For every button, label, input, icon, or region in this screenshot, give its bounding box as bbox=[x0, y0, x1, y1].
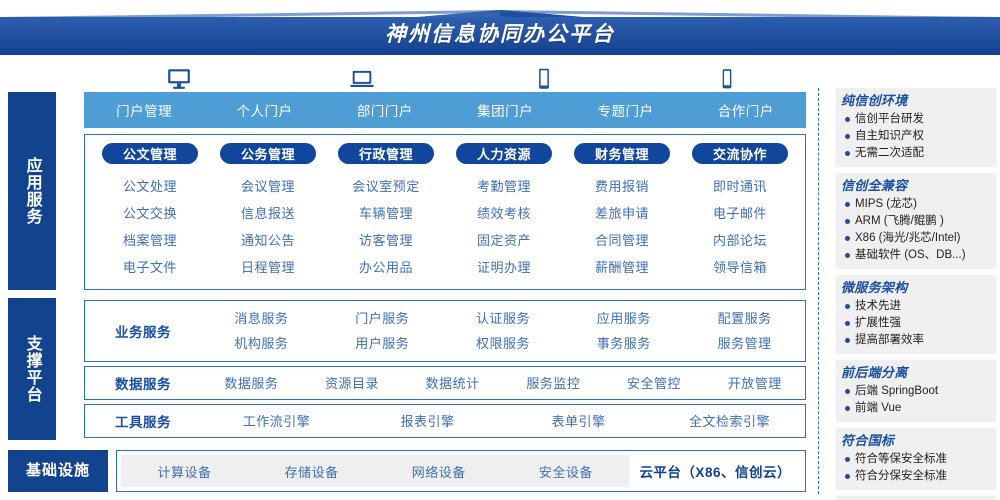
portal-bar: 门户管理 个人门户 部门门户 集团门户 专题门户 合作门户 bbox=[84, 92, 806, 128]
laptop-icon bbox=[349, 66, 375, 92]
app-item-5-2[interactable]: 内部论坛 bbox=[713, 227, 767, 254]
sidebar-title-2: 微服务架构 bbox=[841, 278, 991, 297]
bullet-icon bbox=[845, 236, 850, 241]
support-biz-1-3[interactable]: 事务服务 bbox=[563, 331, 684, 356]
sidebar-item-text: 自主知识产权 bbox=[855, 128, 924, 145]
app-column-head-1[interactable]: 公务管理 bbox=[220, 143, 316, 164]
support-business-line-0: 消息服务 门户服务 认证服务 应用服务 配置服务 bbox=[201, 306, 805, 331]
bullet-icon bbox=[845, 406, 850, 411]
app-column-head-4[interactable]: 财务管理 bbox=[574, 143, 670, 164]
sidebar-section-1: 信创全兼容 MIPS (龙芯) ARM (飞腾/鲲鹏 ) X86 (海光/兆芯/… bbox=[836, 173, 996, 269]
app-item-4-3[interactable]: 薪酬管理 bbox=[595, 254, 649, 281]
bullet-icon bbox=[845, 253, 850, 258]
vertical-dashed-divider bbox=[818, 88, 819, 494]
support-biz-1-0[interactable]: 机构服务 bbox=[201, 331, 322, 356]
sidebar-item-text: 技术先进 bbox=[855, 298, 901, 315]
infrastructure-panel: 计算设备 存储设备 网络设备 安全设备 云平台（X86、信创云） bbox=[116, 450, 806, 492]
app-item-0-0[interactable]: 公文处理 bbox=[123, 173, 177, 200]
app-column-5: 交流协作 即时通讯 电子邮件 内部论坛 领导信箱 bbox=[681, 143, 799, 285]
band-infrastructure-label: 基础设施 bbox=[26, 460, 90, 482]
bullet-icon bbox=[845, 134, 850, 139]
sidebar-section-0: 纯信创环境 信创平台研发 自主知识产权 无需二次适配 bbox=[836, 88, 996, 167]
sidebar-item-0-0: 信创平台研发 bbox=[841, 111, 991, 128]
app-column-head-3[interactable]: 人力资源 bbox=[456, 143, 552, 164]
infrastructure-device-2[interactable]: 网络设备 bbox=[375, 462, 502, 481]
app-item-2-2[interactable]: 访客管理 bbox=[359, 227, 413, 254]
feature-sidebar: 纯信创环境 信创平台研发 自主知识产权 无需二次适配 信创全兼容 MIPS (龙… bbox=[836, 88, 996, 496]
sidebar-item-text: 基础软件 (OS、DB...) bbox=[855, 247, 966, 264]
app-item-5-0[interactable]: 即时通讯 bbox=[713, 173, 767, 200]
sidebar-item-text: 信创平台研发 bbox=[855, 111, 924, 128]
sidebar-title-4: 符合国标 bbox=[841, 431, 991, 450]
app-item-0-1[interactable]: 公文交换 bbox=[123, 200, 177, 227]
application-services-panel: 公文管理 公文处理 公文交换 档案管理 电子文件 公务管理 会议管理 信息报送 … bbox=[84, 134, 806, 290]
sidebar-section-3: 前后端分离 后端 SpringBoot 前端 Vue bbox=[836, 360, 996, 422]
portal-item-0[interactable]: 门户管理 bbox=[84, 100, 204, 120]
bullet-icon bbox=[845, 202, 850, 207]
sidebar-item-1-3: 基础软件 (OS、DB...) bbox=[841, 247, 991, 264]
app-item-2-3[interactable]: 办公用品 bbox=[359, 254, 413, 281]
infrastructure-cloud-platform[interactable]: 云平台（X86、信创云） bbox=[629, 461, 801, 481]
device-cell-tablet bbox=[453, 60, 636, 92]
bullet-icon bbox=[845, 219, 850, 224]
support-data-3[interactable]: 服务监控 bbox=[503, 371, 604, 396]
support-tools-line-0: 工作流引擎 报表引擎 表单引擎 全文检索引擎 bbox=[201, 409, 805, 434]
band-application-services: 应用服务 bbox=[8, 92, 56, 290]
portal-item-2[interactable]: 部门门户 bbox=[325, 100, 445, 120]
header-banner: 神州信息协同办公平台 bbox=[0, 0, 1000, 62]
support-tool-3[interactable]: 全文检索引擎 bbox=[654, 409, 805, 434]
bullet-icon bbox=[845, 321, 850, 326]
sidebar-item-text: 符合分保安全标准 bbox=[855, 468, 947, 485]
app-column-2: 行政管理 会议室预定 车辆管理 访客管理 办公用品 bbox=[327, 143, 445, 285]
sidebar-item-1-1: ARM (飞腾/鲲鹏 ) bbox=[841, 213, 991, 230]
portal-item-3[interactable]: 集团门户 bbox=[445, 100, 565, 120]
sidebar-item-4-1: 符合分保安全标准 bbox=[841, 468, 991, 485]
app-item-0-3[interactable]: 电子文件 bbox=[123, 254, 177, 281]
sidebar-item-1-0: MIPS (龙芯) bbox=[841, 196, 991, 213]
desktop-monitor-icon bbox=[166, 66, 192, 92]
app-item-3-1[interactable]: 绩效考核 bbox=[477, 200, 531, 227]
support-data-1[interactable]: 资源目录 bbox=[302, 371, 403, 396]
sidebar-item-4-0: 符合等保安全标准 bbox=[841, 451, 991, 468]
sidebar-section-5: 接口丰富 开放API管理 bbox=[836, 496, 996, 500]
support-label-tools: 工具服务 bbox=[85, 411, 201, 431]
sidebar-item-0-2: 无需二次适配 bbox=[841, 145, 991, 162]
support-data-4[interactable]: 安全管控 bbox=[604, 371, 705, 396]
band-infrastructure: 基础设施 bbox=[8, 450, 108, 492]
support-data-line-0: 数据服务 资源目录 数据统计 服务监控 安全管控 开放管理 bbox=[201, 371, 805, 396]
app-column-3: 人力资源 考勤管理 绩效考核 固定资产 证明办理 bbox=[445, 143, 563, 285]
sidebar-item-text: 后端 SpringBoot bbox=[855, 383, 938, 400]
app-item-4-0[interactable]: 费用报销 bbox=[595, 173, 649, 200]
support-row-data: 数据服务 数据服务 资源目录 数据统计 服务监控 安全管控 开放管理 bbox=[84, 366, 806, 400]
sidebar-item-3-1: 前端 Vue bbox=[841, 400, 991, 417]
sidebar-item-2-2: 提高部署效率 bbox=[841, 332, 991, 349]
bullet-icon bbox=[845, 457, 850, 462]
sidebar-item-text: 符合等保安全标准 bbox=[855, 451, 947, 468]
app-item-3-0[interactable]: 考勤管理 bbox=[477, 173, 531, 200]
support-row-tools: 工具服务 工作流引擎 报表引擎 表单引擎 全文检索引擎 bbox=[84, 404, 806, 438]
app-item-1-1[interactable]: 信息报送 bbox=[241, 200, 295, 227]
bullet-icon bbox=[845, 304, 850, 309]
app-item-4-1[interactable]: 差旅申请 bbox=[595, 200, 649, 227]
device-icon-row bbox=[88, 60, 818, 92]
support-label-data: 数据服务 bbox=[85, 373, 201, 393]
app-item-2-1[interactable]: 车辆管理 bbox=[359, 200, 413, 227]
tablet-icon bbox=[531, 66, 557, 92]
app-item-4-2[interactable]: 合同管理 bbox=[595, 227, 649, 254]
support-biz-0-2[interactable]: 认证服务 bbox=[443, 306, 564, 331]
band-support-platform: 支撑平台 bbox=[8, 298, 56, 440]
support-tool-2[interactable]: 表单引擎 bbox=[503, 409, 654, 434]
app-item-0-2[interactable]: 档案管理 bbox=[123, 227, 177, 254]
band-application-label: 应用服务 bbox=[20, 157, 43, 225]
sidebar-item-text: 无需二次适配 bbox=[855, 145, 924, 162]
support-tool-0[interactable]: 工作流引擎 bbox=[201, 409, 352, 434]
support-label-business: 业务服务 bbox=[85, 321, 201, 341]
support-data-0[interactable]: 数据服务 bbox=[201, 371, 302, 396]
sidebar-section-2: 微服务架构 技术先进 扩展性强 提高部署效率 bbox=[836, 275, 996, 354]
app-column-1: 公务管理 会议管理 信息报送 通知公告 日程管理 bbox=[209, 143, 327, 285]
app-item-5-3[interactable]: 领导信箱 bbox=[713, 254, 767, 281]
bullet-icon bbox=[845, 389, 850, 394]
sidebar-title-0: 纯信创环境 bbox=[841, 91, 991, 110]
app-item-3-3[interactable]: 证明办理 bbox=[477, 254, 531, 281]
portal-item-5[interactable]: 合作门户 bbox=[686, 100, 806, 120]
sidebar-item-0-1: 自主知识产权 bbox=[841, 128, 991, 145]
sidebar-item-2-0: 技术先进 bbox=[841, 298, 991, 315]
app-column-head-5[interactable]: 交流协作 bbox=[692, 143, 788, 164]
page-title: 神州信息协同办公平台 bbox=[0, 22, 1000, 48]
bullet-icon bbox=[845, 474, 850, 479]
sidebar-item-1-2: X86 (海光/兆芯/Intel) bbox=[841, 230, 991, 247]
support-biz-0-4[interactable]: 配置服务 bbox=[684, 306, 805, 331]
support-biz-1-4[interactable]: 服务管理 bbox=[684, 331, 805, 356]
sidebar-item-text: MIPS (龙芯) bbox=[855, 196, 917, 213]
bullet-icon bbox=[845, 117, 850, 122]
band-support-label: 支撑平台 bbox=[20, 335, 43, 403]
app-column-head-2[interactable]: 行政管理 bbox=[338, 143, 434, 164]
bullet-icon bbox=[845, 151, 850, 156]
infrastructure-device-1[interactable]: 存储设备 bbox=[248, 462, 375, 481]
app-item-5-1[interactable]: 电子邮件 bbox=[713, 200, 767, 227]
support-biz-0-3[interactable]: 应用服务 bbox=[563, 306, 684, 331]
sidebar-item-text: 提高部署效率 bbox=[855, 332, 924, 349]
portal-item-1[interactable]: 个人门户 bbox=[204, 100, 324, 120]
sidebar-title-1: 信创全兼容 bbox=[841, 176, 991, 195]
support-data-5[interactable]: 开放管理 bbox=[704, 371, 805, 396]
app-column-4: 财务管理 费用报销 差旅申请 合同管理 薪酬管理 bbox=[563, 143, 681, 285]
device-cell-phone bbox=[636, 60, 819, 92]
sidebar-section-4: 符合国标 符合等保安全标准 符合分保安全标准 bbox=[836, 428, 996, 490]
sidebar-item-text: X86 (海光/兆芯/Intel) bbox=[855, 230, 960, 247]
app-item-2-0[interactable]: 会议室预定 bbox=[352, 173, 420, 200]
infrastructure-device-3[interactable]: 安全设备 bbox=[502, 462, 629, 481]
support-tool-1[interactable]: 报表引擎 bbox=[352, 409, 503, 434]
support-biz-1-2[interactable]: 权限服务 bbox=[443, 331, 564, 356]
mobile-phone-icon bbox=[714, 66, 740, 92]
support-biz-0-1[interactable]: 门户服务 bbox=[322, 306, 443, 331]
app-item-1-0[interactable]: 会议管理 bbox=[241, 173, 295, 200]
infrastructure-device-group: 计算设备 存储设备 网络设备 安全设备 bbox=[121, 455, 629, 487]
app-item-1-3[interactable]: 日程管理 bbox=[241, 254, 295, 281]
portal-item-4[interactable]: 专题门户 bbox=[565, 100, 685, 120]
support-biz-1-1[interactable]: 用户服务 bbox=[322, 331, 443, 356]
app-column-0: 公文管理 公文处理 公文交换 档案管理 电子文件 bbox=[91, 143, 209, 285]
support-business-line-1: 机构服务 用户服务 权限服务 事务服务 服务管理 bbox=[201, 331, 805, 356]
sidebar-item-text: ARM (飞腾/鲲鹏 ) bbox=[855, 213, 944, 230]
infrastructure-device-0[interactable]: 计算设备 bbox=[121, 462, 248, 481]
device-cell-desktop bbox=[88, 60, 271, 92]
sidebar-title-3: 前后端分离 bbox=[841, 363, 991, 382]
sidebar-item-2-1: 扩展性强 bbox=[841, 315, 991, 332]
app-item-1-2[interactable]: 通知公告 bbox=[241, 227, 295, 254]
bullet-icon bbox=[845, 338, 850, 343]
support-biz-0-0[interactable]: 消息服务 bbox=[201, 306, 322, 331]
sidebar-item-3-0: 后端 SpringBoot bbox=[841, 383, 991, 400]
app-column-head-0[interactable]: 公文管理 bbox=[102, 143, 198, 164]
support-row-business: 业务服务 消息服务 门户服务 认证服务 应用服务 配置服务 机构服务 用户服务 … bbox=[84, 300, 806, 362]
sidebar-item-text: 前端 Vue bbox=[855, 400, 901, 417]
app-item-3-2[interactable]: 固定资产 bbox=[477, 227, 531, 254]
device-cell-laptop bbox=[271, 60, 454, 92]
support-data-2[interactable]: 数据统计 bbox=[402, 371, 503, 396]
architecture-diagram: 神州信息协同办公平台 bbox=[0, 0, 1000, 500]
sidebar-item-text: 扩展性强 bbox=[855, 315, 901, 332]
